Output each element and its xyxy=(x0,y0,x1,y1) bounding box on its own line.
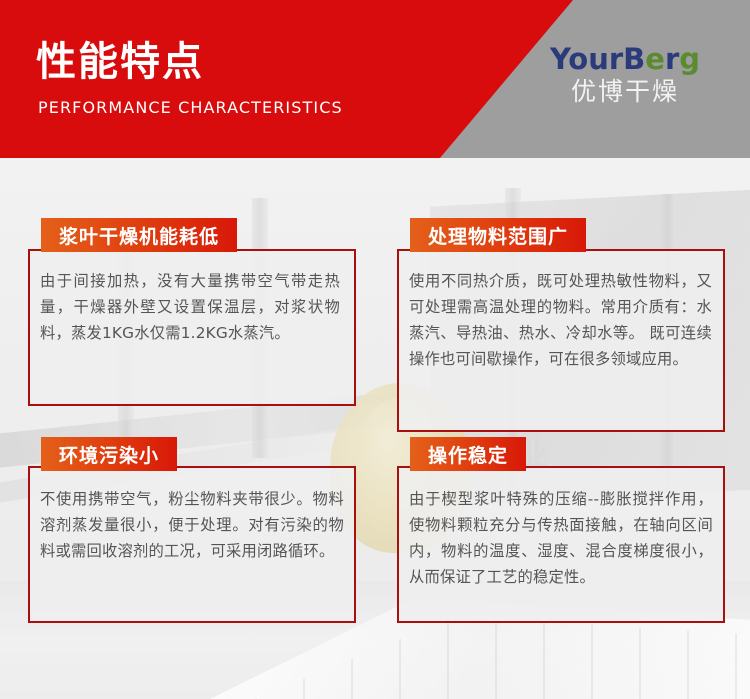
logo-wordmark: YourBerg xyxy=(530,44,720,74)
performance-characteristics-page: 业企业 性能特点 PERFORMANCE CHARACTERISTICS You… xyxy=(0,0,750,699)
feature-card-body: 不使用携带空气，粉尘物料夹带很少。物料溶剂蒸发量很小，便于处理。对有污染的物料或… xyxy=(40,486,344,564)
feature-card-title: 操作稳定 xyxy=(410,437,526,471)
logo-wordmark-r: r xyxy=(665,42,679,76)
logo-wordmark-e: e xyxy=(645,42,665,76)
feature-card-body: 由于楔型浆叶特殊的压缩--膨胀搅拌作用，使物料颗粒充分与传热面接触，在轴向区间内… xyxy=(409,486,713,590)
logo-wordmark-g: g xyxy=(679,42,700,76)
feature-card-body: 使用不同热介质，既可处理热敏性物料，又可处理需高温处理的物料。常用介质有：水蒸汽… xyxy=(409,268,712,372)
feature-card-title: 浆叶干燥机能耗低 xyxy=(41,218,237,252)
brand-logo: YourBerg 优博干燥 xyxy=(530,44,720,106)
logo-wordmark-your: Your xyxy=(550,42,623,76)
feature-card-title: 环境污染小 xyxy=(41,437,177,471)
page-subtitle: PERFORMANCE CHARACTERISTICS xyxy=(38,100,343,116)
feature-card-body: 由于间接加热，没有大量携带空气带走热量，干燥器外壁又设置保温层，对浆状物料，蒸发… xyxy=(40,268,340,346)
logo-wordmark-b: B xyxy=(623,42,645,76)
page-header: 性能特点 PERFORMANCE CHARACTERISTICS YourBer… xyxy=(0,0,750,158)
logo-chinese-name: 优博干燥 xyxy=(530,78,720,106)
page-title: 性能特点 xyxy=(36,42,204,82)
feature-card-title: 处理物料范围广 xyxy=(410,218,586,252)
